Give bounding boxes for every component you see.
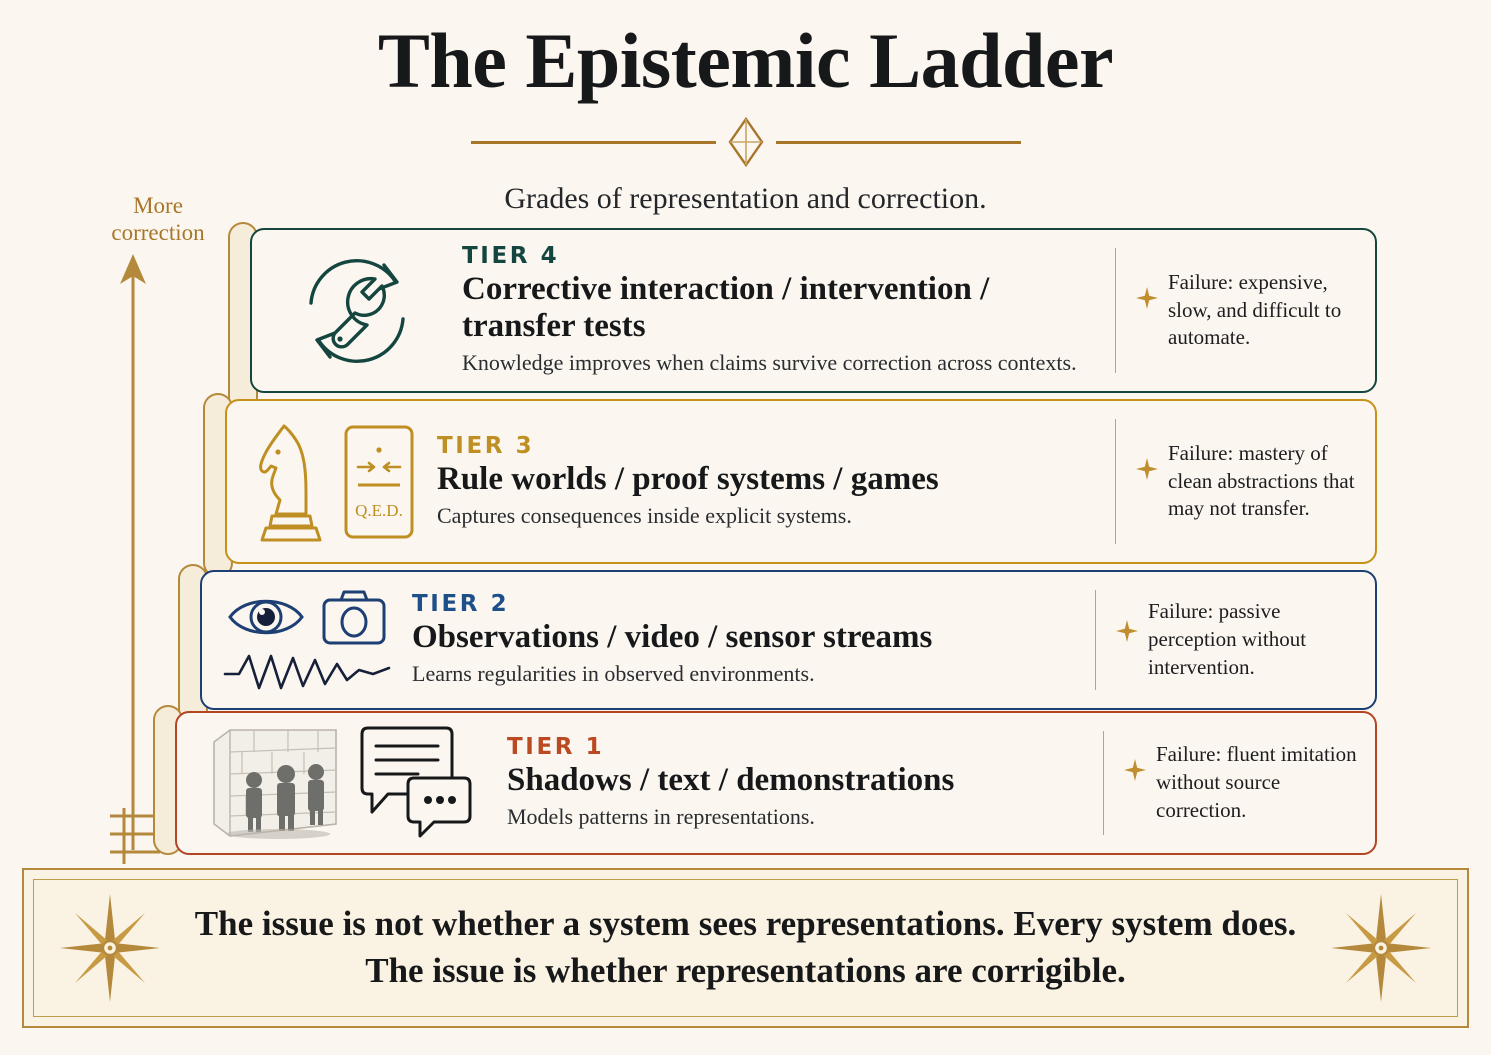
cave-wall-shadows-icon: [208, 724, 340, 842]
tier2-headline: Observations / video / sensor streams: [412, 619, 1085, 656]
compass-star-icon: [58, 892, 162, 1004]
tier-card-3[interactable]: Q.E.D. TIER 3 Rule worlds / proof system…: [225, 399, 1377, 564]
banner-line-1: The issue is not whether a system sees r…: [162, 901, 1329, 948]
tier4-subtext: Knowledge improves when claims survive c…: [462, 349, 1105, 378]
tier-card-2[interactable]: TIER 2 Observations / video / sensor str…: [200, 570, 1377, 710]
wrench-in-cycle-icon: [291, 245, 423, 377]
eye-icon: [227, 590, 305, 644]
four-point-star-icon: [1136, 458, 1158, 480]
tier-card-1[interactable]: TIER 1 Shadows / text / demonstrations M…: [175, 711, 1377, 855]
tier4-kicker: TIER 4: [462, 243, 1105, 269]
waveform-icon: [223, 648, 391, 692]
tier1-kicker: TIER 1: [507, 734, 1093, 760]
four-point-star-icon: [1116, 620, 1138, 642]
tier4-body: TIER 4 Corrective interaction / interven…: [462, 230, 1115, 391]
tier3-headline: Rule worlds / proof systems / games: [437, 461, 1105, 498]
tier2-kicker: TIER 2: [412, 591, 1085, 617]
tier1-failure: Failure: fluent imitation without source…: [1103, 731, 1375, 835]
tier1-body: TIER 1 Shadows / text / demonstrations M…: [507, 713, 1103, 853]
qed-proof-card-icon: Q.E.D.: [342, 423, 416, 541]
chat-bubbles-icon: [354, 724, 476, 842]
chess-knight-icon: [248, 418, 332, 546]
tier4-icon-group: [252, 230, 462, 391]
tier3-subtext: Captures consequences inside explicit sy…: [437, 502, 1105, 531]
tier2-failure-text: Failure: passive perception without inte…: [1148, 598, 1361, 682]
banner-line-2: The issue is whether representations are…: [162, 948, 1329, 995]
tier1-headline: Shadows / text / demonstrations: [507, 762, 1093, 799]
banner-text: The issue is not whether a system sees r…: [162, 901, 1329, 995]
tier3-kicker: TIER 3: [437, 433, 1105, 459]
tier3-icon-group: Q.E.D.: [227, 401, 437, 562]
tier1-icon-group: [177, 713, 507, 853]
tier4-headline: Corrective interaction / intervention / …: [462, 271, 1105, 345]
four-point-star-icon: [1124, 759, 1146, 781]
tier2-failure: Failure: passive perception without inte…: [1095, 590, 1375, 690]
tier3-failure-text: Failure: mastery of clean abstractions t…: [1168, 440, 1361, 524]
four-point-star-icon: [1136, 287, 1158, 309]
tier2-body: TIER 2 Observations / video / sensor str…: [412, 572, 1095, 708]
tier3-failure: Failure: mastery of clean abstractions t…: [1115, 419, 1375, 544]
camera-icon: [321, 588, 387, 646]
tier-card-4[interactable]: TIER 4 Corrective interaction / interven…: [250, 228, 1377, 393]
tier3-body: TIER 3 Rule worlds / proof systems / gam…: [437, 401, 1115, 562]
svg-text:Q.E.D.: Q.E.D.: [355, 501, 403, 520]
conclusion-banner: The issue is not whether a system sees r…: [22, 868, 1469, 1028]
tier1-failure-text: Failure: fluent imitation without source…: [1156, 741, 1361, 825]
compass-star-icon: [1329, 892, 1433, 1004]
tier2-icon-group: [202, 572, 412, 708]
tier2-subtext: Learns regularities in observed environm…: [412, 660, 1085, 689]
tier1-subtext: Models patterns in representations.: [507, 803, 1093, 832]
tier4-failure-text: Failure: expensive, slow, and difficult …: [1168, 269, 1361, 353]
tier4-failure: Failure: expensive, slow, and difficult …: [1115, 248, 1375, 373]
